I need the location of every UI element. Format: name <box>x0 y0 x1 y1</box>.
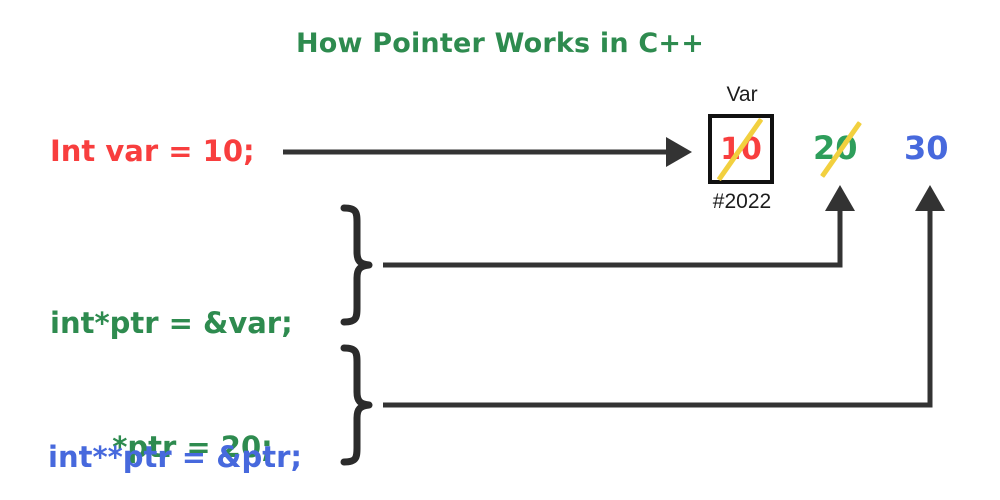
diagram-canvas: How Pointer Works in C++ Int var = 10; i… <box>0 0 1000 500</box>
code-declaration-int-var: Int var = 10; <box>50 131 255 172</box>
memory-address-label: #2022 <box>690 190 794 214</box>
code-line-ptr-decl: int*ptr = &var; <box>50 303 335 344</box>
value-final-30: 30 <box>904 129 949 167</box>
curly-brace-icon-single-pointer <box>344 208 369 322</box>
page-title: How Pointer Works in C++ <box>0 28 1000 59</box>
elbow-arrow-up-icon-ptrptr-to-30 <box>383 205 930 405</box>
code-line-ptrptr-decl: int**ptr = &ptr; <box>48 437 340 478</box>
memory-cell-label: Var <box>706 83 778 107</box>
elbow-arrow-up-icon-ptr-to-20 <box>383 205 840 265</box>
curly-brace-icon-double-pointer <box>344 348 369 462</box>
code-block-double-pointer: int**ptr = &ptr; **ptr = 30; <box>48 355 340 500</box>
